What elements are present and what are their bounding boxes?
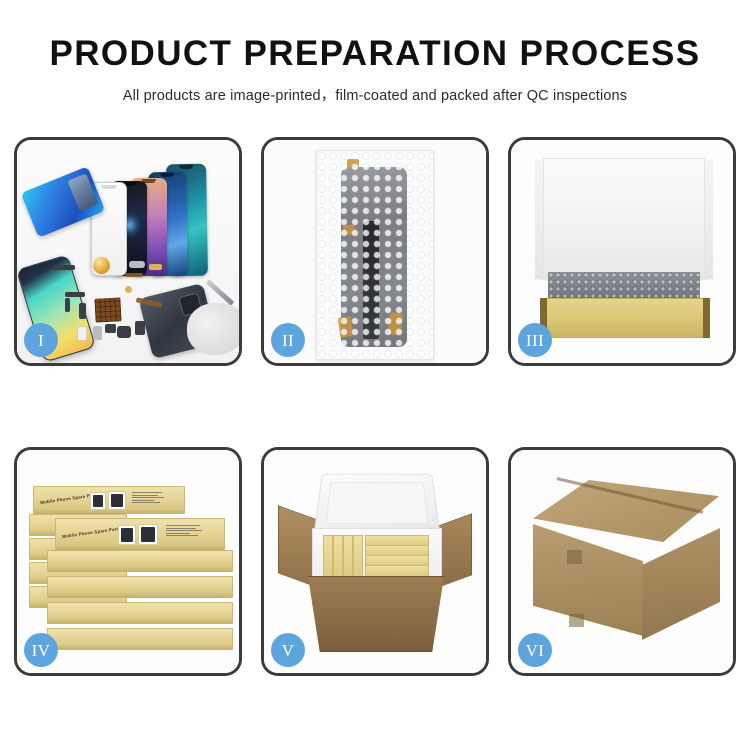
bubble-wrap-bag: [316, 150, 434, 360]
wrapped-connector: [388, 312, 403, 335]
packed-box: [323, 535, 333, 577]
kraft-box-base: [540, 298, 710, 338]
vibration-motor-part: [93, 257, 110, 274]
process-step-4[interactable]: Mobile Phone Spare Parts: [14, 447, 242, 676]
process-step-1[interactable]: I: [14, 137, 242, 366]
spare-part: [135, 321, 145, 335]
spare-part: [53, 265, 75, 270]
packed-box: [343, 535, 353, 577]
step-badge-3: III: [518, 323, 552, 357]
spare-part: [149, 264, 162, 270]
wrapped-connector: [347, 159, 359, 168]
flex-cable-part: [125, 273, 143, 277]
spare-part: [65, 292, 85, 297]
speaker-part: [117, 326, 131, 338]
spare-part: [65, 298, 70, 312]
foam-case-lid: [314, 474, 441, 535]
spare-part: [77, 326, 87, 341]
process-step-2[interactable]: II: [261, 137, 489, 366]
step-badge-1: I: [24, 323, 58, 357]
wrapped-connector: [343, 225, 355, 235]
logic-board-chip: [94, 297, 121, 322]
step-badge-4: IV: [24, 633, 58, 667]
process-step-5[interactable]: V: [261, 447, 489, 676]
packed-box: [353, 535, 363, 577]
wrapped-flex-strip: [363, 221, 379, 339]
step-badge-6: VI: [518, 633, 552, 667]
packed-box: [365, 565, 429, 577]
spare-part: [129, 261, 145, 268]
page-subtitle: All products are image-printed，film-coat…: [0, 84, 750, 105]
header: PRODUCT PREPARATION PROCESS All products…: [0, 36, 750, 105]
spare-part: [125, 286, 132, 293]
kraft-box-stack: Mobile Phone Spare Parts: [31, 476, 231, 656]
step-badge-2: II: [271, 323, 305, 357]
spare-part: [105, 324, 116, 333]
wrapped-connector: [338, 316, 354, 338]
process-step-6[interactable]: VI: [508, 447, 736, 676]
carton-body: [302, 576, 450, 652]
carton-tape-patch: [567, 550, 582, 564]
hand: [187, 303, 239, 355]
foam-case-body: [312, 528, 442, 584]
product-preparation-infographic: PRODUCT PREPARATION PROCESS All products…: [0, 0, 750, 750]
process-step-grid: I II: [14, 137, 736, 676]
box-label-text: Mobile Phone Spare Parts: [62, 526, 121, 539]
white-foam-lid: [543, 158, 705, 276]
phone-lineup: [91, 156, 233, 276]
packed-box: [333, 535, 343, 577]
spare-part: [79, 303, 86, 319]
process-step-3[interactable]: III: [508, 137, 736, 366]
page-title: PRODUCT PREPARATION PROCESS: [0, 36, 750, 73]
step-badge-5: V: [271, 633, 305, 667]
spare-part: [93, 326, 102, 340]
carton-tape-patch: [569, 614, 584, 627]
